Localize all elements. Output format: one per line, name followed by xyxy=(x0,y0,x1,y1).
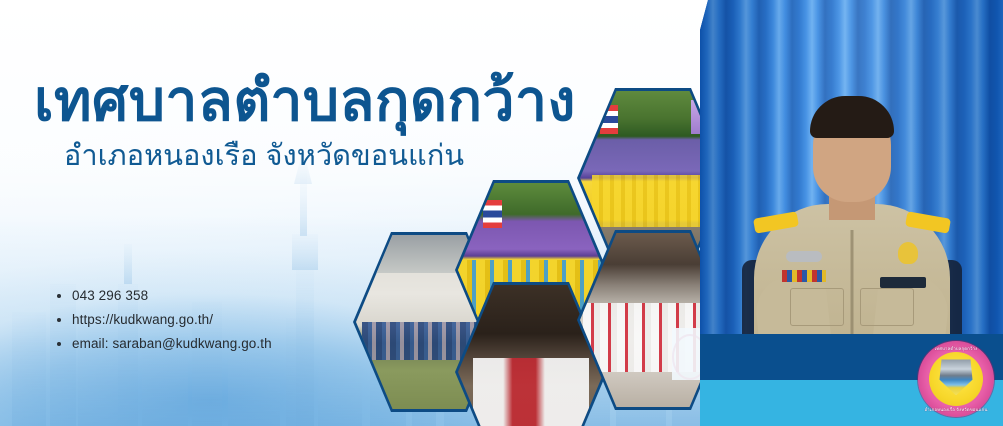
rank-badge-icon xyxy=(898,242,918,264)
municipality-banner: เทศบาลตำบลกุดกว้าง อำเภอหนองเรือ จังหวัด… xyxy=(0,0,1003,426)
name-tag xyxy=(880,277,926,288)
page-subtitle: อำเภอหนองเรือ จังหวัดขอนแก่น xyxy=(0,140,494,173)
thai-flag-icon xyxy=(483,200,502,228)
left-pocket xyxy=(790,288,844,326)
headline-block: เทศบาลตำบลกุดกว้าง อำเภอหนองเรือ จังหวัด… xyxy=(0,72,660,173)
wing-insignia-icon xyxy=(786,251,822,262)
municipal-seal[interactable]: เทศบาลตำบลกุดกว้าง อำเภอหนองเรือ จังหวัด… xyxy=(918,341,994,417)
contact-phone-text: 043 296 358 xyxy=(72,288,148,303)
ribbon-bar-icon xyxy=(782,270,826,282)
contact-website-text: https://kudkwang.go.th/ xyxy=(72,312,213,327)
seal-top-text: เทศบาลตำบลกุดกว้าง xyxy=(918,345,994,352)
right-pocket xyxy=(860,288,914,326)
contact-item-email[interactable]: email: saraban@kudkwang.go.th xyxy=(55,336,272,351)
hair xyxy=(810,96,894,138)
contact-item-phone[interactable]: 043 296 358 xyxy=(55,288,272,303)
seal-bottom-text: อำเภอหนองเรือ จังหวัดขอนแก่น xyxy=(918,406,994,413)
page-title: เทศบาลตำบลกุดกว้าง xyxy=(0,72,660,130)
contact-list: 043 296 358 https://kudkwang.go.th/ emai… xyxy=(55,288,272,360)
contact-item-website[interactable]: https://kudkwang.go.th/ xyxy=(55,312,272,327)
contact-email-text: email: saraban@kudkwang.go.th xyxy=(72,336,272,351)
